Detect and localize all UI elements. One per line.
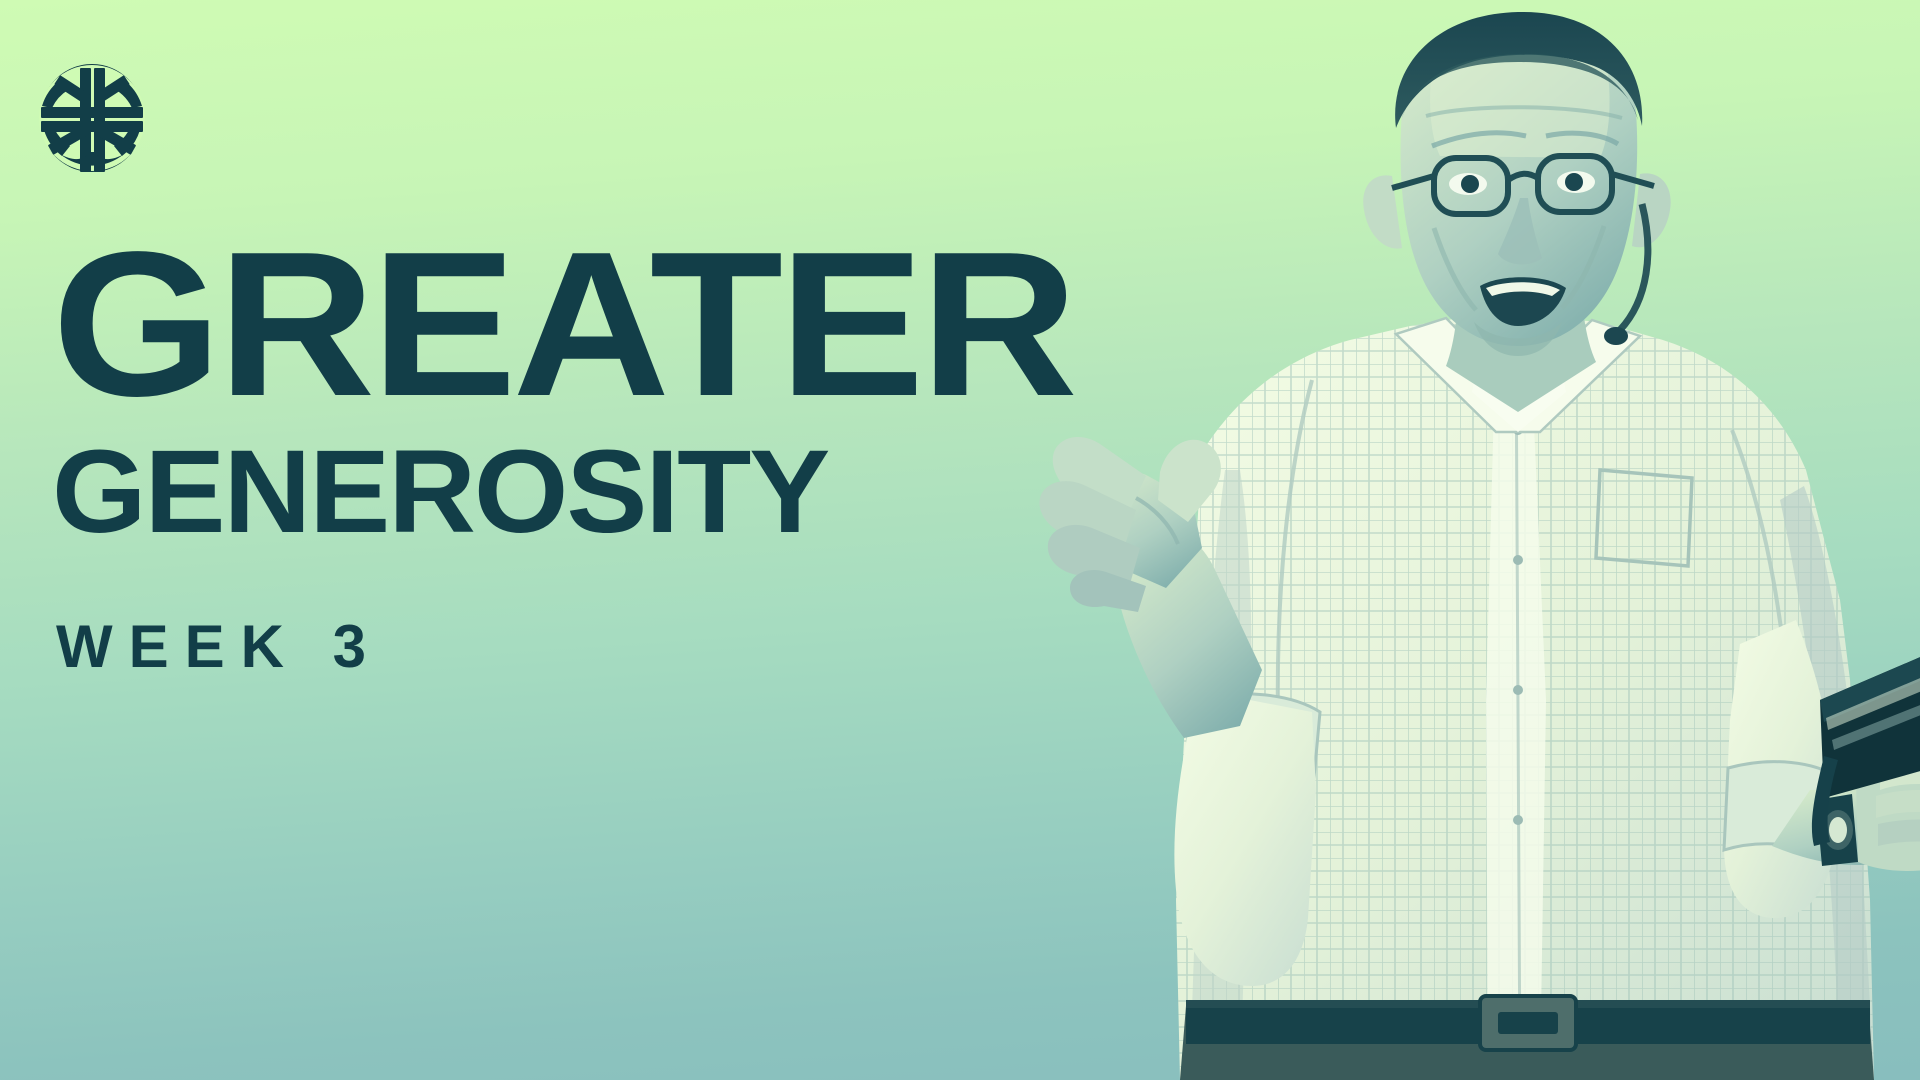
church-cross-circle-icon: [38, 62, 146, 174]
series-week-label: WEEK 3: [56, 617, 1092, 677]
series-title-block: GREATER GENEROSITY WEEK 3: [52, 236, 1092, 677]
series-title-sub: GENEROSITY: [52, 433, 1123, 551]
title-slide: GREATER GENEROSITY WEEK 3: [0, 0, 1920, 1080]
series-title-main: GREATER: [52, 236, 1154, 413]
